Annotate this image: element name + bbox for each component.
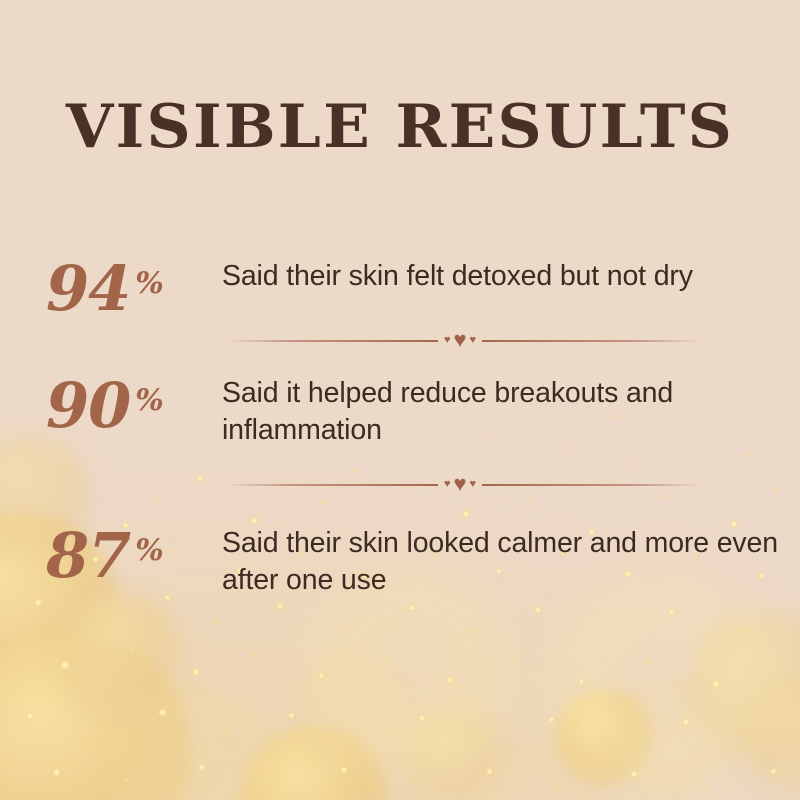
stat-number: 94: [46, 260, 130, 317]
stats-list: 94 % Said their skin felt detoxed but no…: [0, 258, 800, 599]
divider-rule-left: [226, 340, 438, 342]
poster-content: VISIBLE RESULTS 94 % Said their skin fel…: [0, 0, 800, 800]
divider-rule-right: [482, 340, 700, 342]
stat-row: 87 % Said their skin looked calmer and m…: [0, 525, 800, 599]
percent-sign: %: [135, 269, 164, 299]
stat-row: 94 % Said their skin felt detoxed but no…: [0, 258, 800, 317]
heart-divider: ♥ ♥ ♥: [0, 327, 800, 353]
heart-icon: ♥: [453, 329, 466, 351]
stat-number: 87: [46, 527, 130, 584]
stat-row: 90 % Said it helped reduce breakouts and…: [0, 375, 800, 449]
divider-rule-right: [482, 484, 700, 486]
percent-sign: %: [135, 386, 164, 416]
stat-figure: 90 %: [46, 375, 222, 434]
stat-number: 90: [46, 377, 130, 434]
heart-icon: ♥: [470, 335, 477, 346]
page-title: VISIBLE RESULTS: [0, 97, 800, 157]
stat-description: Said it helped reduce breakouts and infl…: [222, 375, 800, 449]
stat-figure: 94 %: [46, 258, 222, 317]
stat-description: Said their skin felt detoxed but not dry: [222, 258, 800, 295]
divider-hearts: ♥ ♥ ♥: [430, 327, 490, 353]
heart-icon: ♥: [470, 479, 477, 490]
heart-divider: ♥ ♥ ♥: [0, 471, 800, 497]
divider-hearts: ♥ ♥ ♥: [430, 471, 490, 497]
heart-icon: ♥: [453, 473, 466, 495]
poster-canvas: VISIBLE RESULTS 94 % Said their skin fel…: [0, 0, 800, 800]
percent-sign: %: [135, 536, 164, 566]
heart-icon: ♥: [444, 479, 451, 490]
stat-figure: 87 %: [46, 525, 222, 584]
stat-description: Said their skin looked calmer and more e…: [222, 525, 800, 599]
divider-rule-left: [226, 484, 438, 486]
heart-icon: ♥: [444, 335, 451, 346]
